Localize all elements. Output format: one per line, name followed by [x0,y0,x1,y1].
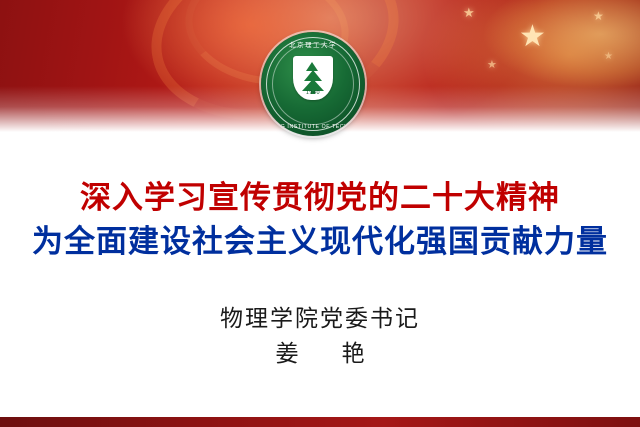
emblem-university-name-cn: 北京理工大学 [261,39,365,49]
presenter-role: 物理学院党委书记 [0,302,640,336]
presenter-name: 姜 艳 [0,336,640,372]
emblem-founding-year: 1940 [293,90,333,96]
presentation-slide: ★ ★ ★ ★ ★ 北京理工大学 1940 BEIJING INSTITUTE … [0,0,640,427]
emblem-shield-icon: 1940 [293,56,333,100]
footer-strip [0,417,640,427]
star-icon: ★ [519,22,546,52]
star-icon: ★ [604,52,613,62]
presenter-info: 物理学院党委书记 姜 艳 [0,302,640,372]
slide-title: 深入学习宣传贯彻党的二十大精神 为全面建设社会主义现代化强国贡献力量 [0,176,640,264]
emblem-university-name-en: BEIJING INSTITUTE OF TECHNOLOGY [261,124,365,130]
title-line-1: 深入学习宣传贯彻党的二十大精神 [0,176,640,220]
star-icon: ★ [593,10,604,22]
star-icon: ★ [463,6,475,19]
university-emblem-icon: 北京理工大学 1940 BEIJING INSTITUTE OF TECHNOL… [261,32,365,136]
star-icon: ★ [487,60,497,71]
title-line-2: 为全面建设社会主义现代化强国贡献力量 [0,220,640,264]
